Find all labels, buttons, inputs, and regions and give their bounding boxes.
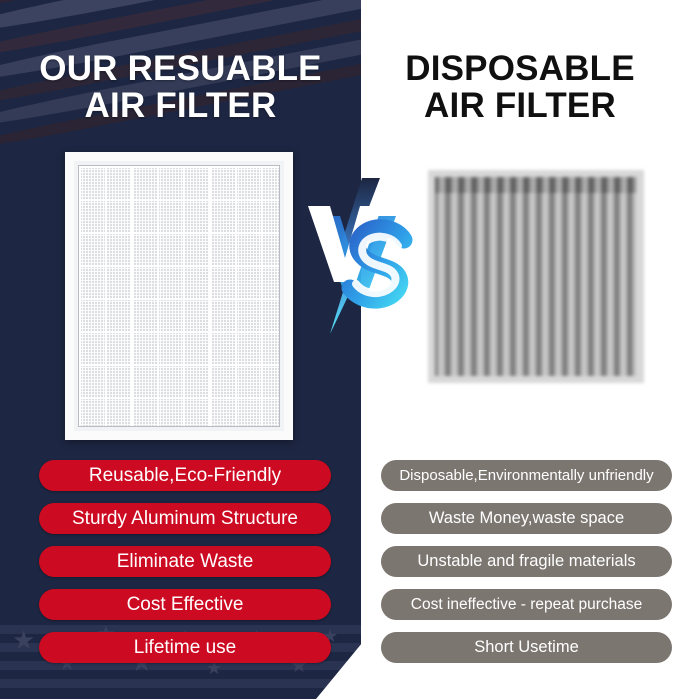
benefit-label-4: Cost Effective: [127, 594, 244, 616]
drawback-label-2: Waste Money,waste space: [429, 509, 624, 528]
heading-left-line1: OUR RESUABLE: [39, 49, 321, 88]
vs-lightning-icon: [300, 176, 416, 336]
benefit-pill-2[interactable]: Sturdy Aluminum Structure: [39, 503, 331, 534]
benefit-pill-3[interactable]: Eliminate Waste: [39, 546, 331, 577]
disposable-filter-image: [428, 170, 644, 383]
drawback-pill-4[interactable]: Cost ineffective - repeat purchase: [381, 589, 672, 620]
comparison-infographic: ★ ★ ★ ★ ★ ★ ★ ★ ★ OUR RESUABLE AIR FILTE…: [0, 0, 679, 699]
aluminum-mesh-texture: [78, 165, 280, 427]
reusable-filter-image: [65, 152, 293, 440]
benefit-label-5: Lifetime use: [134, 637, 236, 659]
benefit-pill-1[interactable]: Reusable,Eco-Friendly: [39, 460, 331, 491]
vs-badge: [300, 176, 416, 336]
page-title-disposable: DISPOSABLE AIR FILTER: [361, 50, 679, 124]
drawback-label-4: Cost ineffective - repeat purchase: [411, 596, 642, 614]
drawback-label-5: Short Usetime: [474, 638, 579, 657]
heading-right-line2: AIR FILTER: [361, 87, 679, 124]
benefit-pill-5[interactable]: Lifetime use: [39, 632, 331, 663]
benefit-label-2: Sturdy Aluminum Structure: [72, 508, 298, 530]
drawback-label-1: Disposable,Environmentally unfriendly: [399, 467, 653, 484]
drawback-pill-2[interactable]: Waste Money,waste space: [381, 503, 672, 534]
disposable-filter-frame: [428, 170, 644, 383]
drawback-pill-5[interactable]: Short Usetime: [381, 632, 672, 663]
benefit-pill-4[interactable]: Cost Effective: [39, 589, 331, 620]
drawback-pill-1[interactable]: Disposable,Environmentally unfriendly: [381, 460, 672, 491]
page-title-reusable: OUR RESUABLE AIR FILTER: [0, 50, 361, 124]
heading-right-line1: DISPOSABLE: [405, 49, 635, 88]
drawback-label-3: Unstable and fragile materials: [417, 552, 635, 571]
benefit-label-3: Eliminate Waste: [117, 551, 254, 573]
heading-left-line2: AIR FILTER: [0, 87, 361, 124]
drawback-pill-3[interactable]: Unstable and fragile materials: [381, 546, 672, 577]
benefit-label-1: Reusable,Eco-Friendly: [89, 465, 281, 487]
